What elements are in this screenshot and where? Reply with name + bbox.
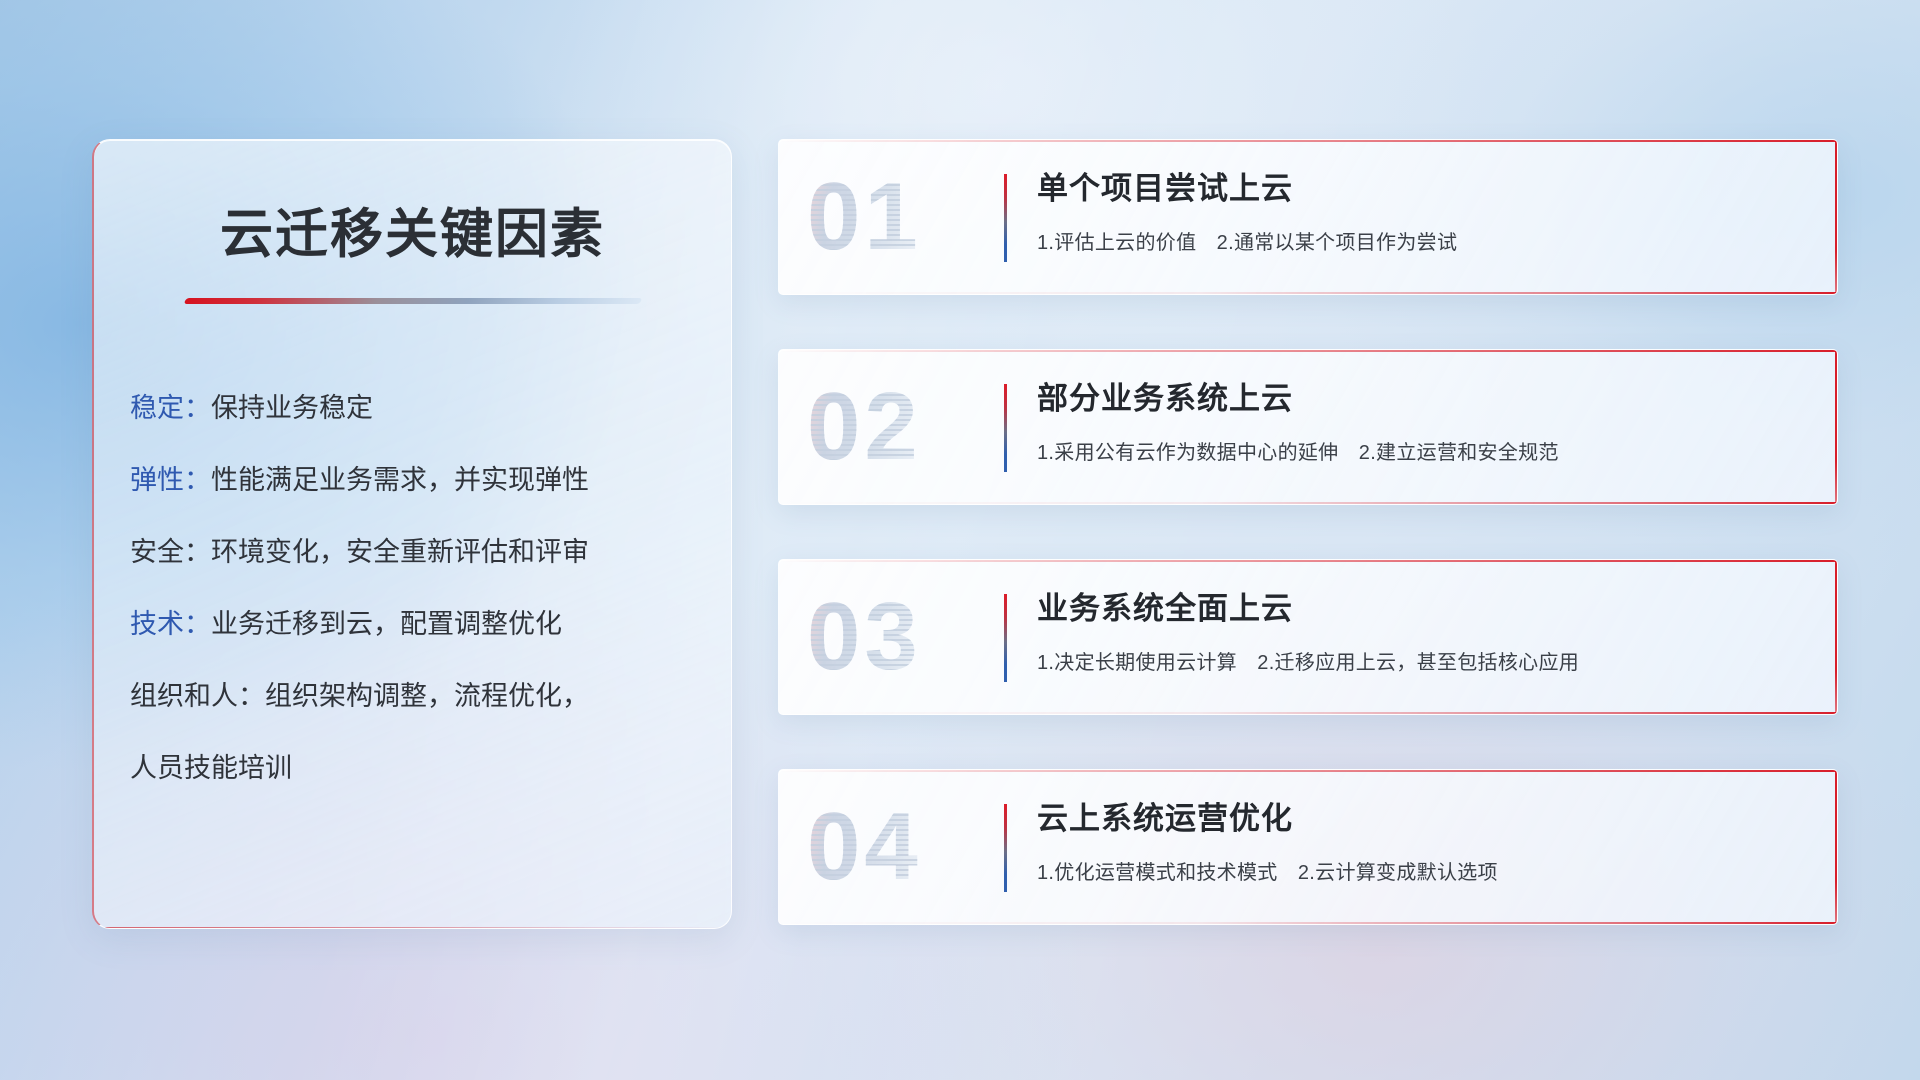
card-bottom-accent — [779, 292, 1837, 294]
slide-content: 云迁移关键因素 稳定：保持业务稳定 弹性：性能满足业务需求，并实现弹性 安全：环… — [0, 0, 1920, 1080]
card-bottom-accent — [779, 922, 1837, 924]
factor-key: 组织和人： — [130, 681, 265, 711]
card-body: 云上系统运营优化 1.优化运营模式和技术模式 2.云计算变成默认选项 — [1037, 800, 1807, 885]
card-right-accent — [1835, 140, 1837, 294]
card-title: 业务系统全面上云 — [1037, 590, 1807, 629]
card-right-accent — [1835, 560, 1837, 714]
card-right-accent — [1835, 350, 1837, 504]
stage-cards: 01 单个项目尝试上云 1.评估上云的价值 2.通常以某个项目作为尝试 02 部… — [778, 139, 1838, 925]
card-top-accent — [779, 560, 1837, 562]
factor-key: 稳定： — [130, 393, 211, 423]
factor-item: 弹性：性能满足业务需求，并实现弹性 — [130, 444, 731, 516]
card-body: 单个项目尝试上云 1.评估上云的价值 2.通常以某个项目作为尝试 — [1037, 170, 1807, 255]
card-title: 部分业务系统上云 — [1037, 380, 1807, 419]
panel-title: 云迁移关键因素 — [94, 192, 731, 268]
factor-item: 安全：环境变化，安全重新评估和评审 — [130, 516, 731, 588]
card-bottom-accent — [779, 502, 1837, 504]
card-top-accent — [779, 350, 1837, 352]
factor-value: 保持业务稳定 — [211, 393, 373, 423]
stage-number: 03 — [807, 589, 922, 685]
key-factors-list: 稳定：保持业务稳定 弹性：性能满足业务需求，并实现弹性 安全：环境变化，安全重新… — [94, 372, 731, 804]
stage-card[interactable]: 01 单个项目尝试上云 1.评估上云的价值 2.通常以某个项目作为尝试 — [778, 139, 1838, 295]
key-factors-panel: 云迁移关键因素 稳定：保持业务稳定 弹性：性能满足业务需求，并实现弹性 安全：环… — [92, 139, 732, 929]
factor-value: 业务迁移到云，配置调整优化 — [211, 609, 562, 639]
factor-item: 人员技能培训 — [130, 732, 731, 804]
stage-card[interactable]: 04 云上系统运营优化 1.优化运营模式和技术模式 2.云计算变成默认选项 — [778, 769, 1838, 925]
card-right-accent — [1835, 770, 1837, 924]
slide-canvas: 云迁移关键因素 稳定：保持业务稳定 弹性：性能满足业务需求，并实现弹性 安全：环… — [0, 0, 1920, 1080]
card-divider-bar — [1004, 174, 1007, 262]
stage-number: 01 — [807, 169, 922, 265]
factor-item: 稳定：保持业务稳定 — [130, 372, 731, 444]
stage-number: 04 — [807, 799, 922, 895]
card-top-accent — [779, 140, 1837, 142]
factor-key: 技术： — [130, 609, 211, 639]
title-underline-rule — [183, 298, 642, 304]
card-description: 1.决定长期使用云计算 2.迁移应用上云，甚至包括核心应用 — [1037, 646, 1807, 675]
stage-card[interactable]: 03 业务系统全面上云 1.决定长期使用云计算 2.迁移应用上云，甚至包括核心应… — [778, 559, 1838, 715]
factor-value: 人员技能培训 — [130, 753, 292, 783]
factor-key: 安全： — [130, 537, 211, 567]
card-divider-bar — [1004, 384, 1007, 472]
factor-item: 技术：业务迁移到云，配置调整优化 — [130, 588, 731, 660]
stage-card[interactable]: 02 部分业务系统上云 1.采用公有云作为数据中心的延伸 2.建立运营和安全规范 — [778, 349, 1838, 505]
card-description: 1.采用公有云作为数据中心的延伸 2.建立运营和安全规范 — [1037, 436, 1807, 465]
factor-key: 弹性： — [130, 465, 211, 495]
card-title: 云上系统运营优化 — [1037, 800, 1807, 839]
factor-value: 性能满足业务需求，并实现弹性 — [211, 465, 589, 495]
card-top-accent — [779, 770, 1837, 772]
card-bottom-accent — [779, 712, 1837, 714]
factor-item: 组织和人：组织架构调整，流程优化， — [130, 660, 731, 732]
card-divider-bar — [1004, 804, 1007, 892]
card-description: 1.评估上云的价值 2.通常以某个项目作为尝试 — [1037, 226, 1807, 255]
card-description: 1.优化运营模式和技术模式 2.云计算变成默认选项 — [1037, 856, 1807, 885]
factor-value: 组织架构调整，流程优化， — [265, 681, 589, 711]
card-body: 部分业务系统上云 1.采用公有云作为数据中心的延伸 2.建立运营和安全规范 — [1037, 380, 1807, 465]
card-divider-bar — [1004, 594, 1007, 682]
card-body: 业务系统全面上云 1.决定长期使用云计算 2.迁移应用上云，甚至包括核心应用 — [1037, 590, 1807, 675]
factor-value: 环境变化，安全重新评估和评审 — [211, 537, 589, 567]
stage-number: 02 — [807, 379, 922, 475]
card-title: 单个项目尝试上云 — [1037, 170, 1807, 209]
